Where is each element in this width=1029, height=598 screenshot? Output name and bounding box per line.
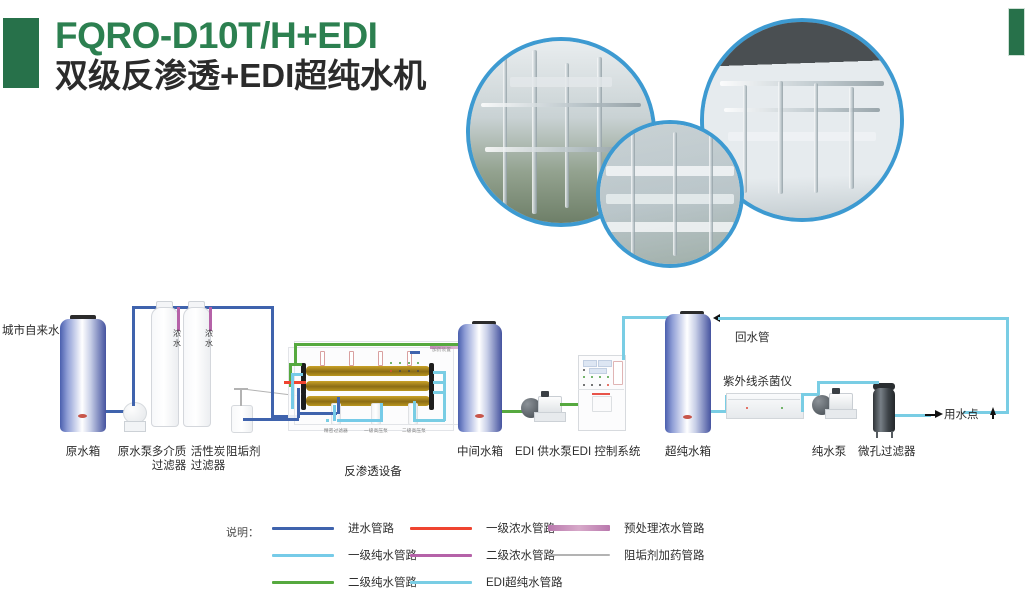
carbon-filter-label-2: 过滤器 xyxy=(189,459,227,473)
pipe-uv-out-riser xyxy=(801,395,804,412)
ultrapure-tank-label: 超纯水箱 xyxy=(662,445,714,459)
ro-panel-blue-chip xyxy=(410,351,420,354)
legend: 说明： 进水管路 一级纯水管路 二级纯水管路 一级浓水管路 二级浓水管路 EDI… xyxy=(0,512,1029,598)
legend-swatch-antiscalant-dosing xyxy=(548,554,610,556)
carbon-concentrate-label-1: 浓 xyxy=(205,329,213,339)
ro-equipment-label: 反渗透设备 xyxy=(340,465,406,479)
pipe-return-run xyxy=(718,317,1008,320)
pipe-ro-stage1-permeate-riser xyxy=(291,373,294,409)
legend-swatch-stage1-concentrate xyxy=(410,527,472,530)
pipe-pump-riser xyxy=(132,306,135,406)
pipe-edi-node xyxy=(326,419,329,422)
legend-swatch-pretreat-concentrate xyxy=(548,525,610,531)
pipe-edi-to-tank-riser xyxy=(622,316,625,360)
use-point-arrow-head xyxy=(935,410,943,418)
page-title-cn: 双级反渗透+EDI超纯水机 xyxy=(55,57,426,96)
micro-filter-leg-left xyxy=(876,431,878,438)
multimedia-concentrate-label-1: 浓 xyxy=(173,329,181,339)
inlet-label: 城市自来水 xyxy=(2,324,60,338)
legend-swatch-stage1-pure xyxy=(272,554,334,557)
edi-cabinet-display-1 xyxy=(583,360,597,367)
edi-cabinet-module xyxy=(592,396,612,412)
legend-label-pretreat-concentrate: 预处理浓水管路 xyxy=(624,520,705,536)
pipe-ro-stage2-out-up xyxy=(443,371,446,421)
edi-cabinet-divider xyxy=(578,389,624,390)
pipe-ro-feed-run xyxy=(299,412,337,415)
uv-sterilizer xyxy=(726,393,804,419)
intermediate-tank-label: 中间水箱 xyxy=(455,445,505,459)
use-point-up-arrow-stem xyxy=(992,413,994,419)
pipe-multimedia-concentrate xyxy=(177,307,180,331)
multimedia-filter-label-1: 多介质 xyxy=(150,445,188,459)
legend-item-stage2-concentrate: 二级浓水管路 xyxy=(410,547,555,563)
pipe-ro-stage1-concentrate xyxy=(284,381,306,384)
edi-cabinet-red-strip xyxy=(592,393,610,395)
pure-water-pump-base xyxy=(825,409,857,419)
legend-swatch-stage2-pure xyxy=(272,581,334,584)
antiscalant-label: 阻垢剂 xyxy=(226,445,260,459)
pipe-ro-feed-extend xyxy=(243,418,299,421)
title-block: FQRO-D10T/H+EDI 双级反渗透+EDI超纯水机 xyxy=(55,16,426,96)
legend-label-feed-water: 进水管路 xyxy=(348,520,394,536)
antiscalant-head xyxy=(234,388,248,390)
page-title-en: FQRO-D10T/H+EDI xyxy=(55,16,426,56)
pipe-ro-stage1-permeate-drop xyxy=(333,405,336,421)
pure-water-pump-terminal xyxy=(832,388,840,394)
use-point-arrow-stem xyxy=(925,414,935,416)
uv-sterilizer-label: 紫外线杀菌仪 xyxy=(723,375,792,389)
carbon-concentrate-label-2: 水 xyxy=(205,339,213,349)
ro-membrane-2 xyxy=(306,381,430,391)
ro-gauge-1 xyxy=(320,351,325,366)
pipe-ro-stage1-permeate-link xyxy=(291,373,303,376)
micro-filter-leg-right xyxy=(891,431,893,438)
pipe-carbon-concentrate xyxy=(209,307,212,331)
legend-swatch-feed-water xyxy=(272,527,334,530)
ro-membrane-end-right-3 xyxy=(429,393,434,410)
micro-filter-label: 微孔过滤器 xyxy=(858,445,912,459)
pipe-return-downcomer xyxy=(1006,317,1009,413)
intermediate-tank xyxy=(458,324,502,432)
slide-root: FQRO-D10T/H+EDI 双级反渗透+EDI超纯水机 xyxy=(0,0,1029,598)
legend-label-antiscalant-dosing: 阻垢剂加药管路 xyxy=(624,547,705,563)
pipe-ro-stage1-permeate-run xyxy=(337,419,383,422)
legend-label-stage2-concentrate: 二级浓水管路 xyxy=(486,547,555,563)
header-accent-bar xyxy=(3,18,39,88)
membrane-array-photo xyxy=(596,120,744,268)
pipe-ro-stage2-out-riser xyxy=(413,401,416,421)
ro-membrane-1 xyxy=(306,366,430,376)
pipe-ro-permeate-riser-left xyxy=(294,343,297,365)
legend-item-stage2-pure: 二级纯水管路 xyxy=(272,574,417,590)
legend-label-stage1-concentrate: 一级浓水管路 xyxy=(486,520,555,536)
ro-stage2-pump-label: 二级高压泵 xyxy=(396,428,432,434)
legend-swatch-edi-ultrapure xyxy=(410,581,472,584)
edi-feed-pump-terminal xyxy=(541,391,549,397)
multimedia-filter-label-2: 过滤器 xyxy=(150,459,188,473)
pipe-ro-feed-up-to-cartridge xyxy=(337,397,340,414)
legend-item-feed-water: 进水管路 xyxy=(272,520,394,536)
edi-cabinet-gauge-1 xyxy=(613,361,623,385)
pipe-edi-to-tank-run xyxy=(622,316,668,319)
return-pipe-label: 回水管 xyxy=(735,331,770,345)
header-accent-bar-right xyxy=(1008,8,1025,56)
pipe-header-downcomer xyxy=(271,306,274,417)
pipe-ro-stage2-out-run xyxy=(413,419,445,422)
ro-stage1-pump-label: 一级高压泵 xyxy=(358,428,394,434)
antiscalant-riser xyxy=(240,389,242,406)
legend-item-stage1-concentrate: 一级浓水管路 xyxy=(410,520,555,536)
pipe-pump-to-micro-filter xyxy=(855,381,879,384)
legend-label-stage1-pure: 一级纯水管路 xyxy=(348,547,417,563)
pipe-ro-stage2-out-link2 xyxy=(433,381,445,384)
legend-swatch-stage2-concentrate xyxy=(410,554,472,557)
legend-item-antiscalant-dosing: 阻垢剂加药管路 xyxy=(548,547,705,563)
ro-cartridge-filter-label: 精密过滤器 xyxy=(318,428,354,434)
multimedia-concentrate-label-2: 水 xyxy=(173,339,181,349)
pure-water-pump-label: 纯水泵 xyxy=(806,445,852,459)
process-flow-diagram: 城市自来水 原水箱 原水泵 浓 水 多介质 过滤器 浓 水 活性炭 过滤器 xyxy=(0,285,1029,500)
ro-dosing-label: 加药装置 xyxy=(432,347,451,353)
edi-feed-pump-label: EDI 供水泵 xyxy=(515,445,571,459)
raw-water-pump-base xyxy=(124,421,146,432)
legend-item-stage1-pure: 一级纯水管路 xyxy=(272,547,417,563)
use-point-label: 用水点 xyxy=(944,408,979,422)
uv-sterilizer-seam xyxy=(728,399,800,400)
edi-cabinet-display-3 xyxy=(589,368,607,374)
ro-gauge-2 xyxy=(349,351,354,366)
pipe-ro-stage2-out-link3 xyxy=(433,391,445,394)
edi-cabinet-display-2 xyxy=(598,360,612,367)
ultrapure-tank xyxy=(665,314,711,433)
raw-water-tank-label: 原水箱 xyxy=(58,445,108,459)
activated-carbon-filter xyxy=(183,307,211,427)
carbon-filter-label-1: 活性炭 xyxy=(189,445,227,459)
edi-control-system-label: EDI 控制系统 xyxy=(572,445,632,459)
pipe-pump-suction-run xyxy=(817,381,857,384)
legend-label-stage2-pure: 二级纯水管路 xyxy=(348,574,417,590)
multimedia-filter xyxy=(151,307,179,427)
legend-item-edi-ultrapure: EDI超纯水管路 xyxy=(410,574,563,590)
pipe-ro-stage1-to-stage2 xyxy=(380,403,383,421)
edi-feed-pump-base xyxy=(534,412,566,422)
pipe-ro-stage2-out-link1 xyxy=(433,371,445,374)
ro-gauge-3 xyxy=(378,351,383,366)
legend-item-pretreat-concentrate: 预处理浓水管路 xyxy=(548,520,705,536)
raw-water-tank xyxy=(60,319,106,432)
micro-filter xyxy=(873,388,895,432)
pipe-ro-permeate-to-mid-tank xyxy=(294,343,460,346)
legend-label-edi-ultrapure: EDI超纯水管路 xyxy=(486,574,563,590)
legend-title: 说明： xyxy=(226,524,259,540)
